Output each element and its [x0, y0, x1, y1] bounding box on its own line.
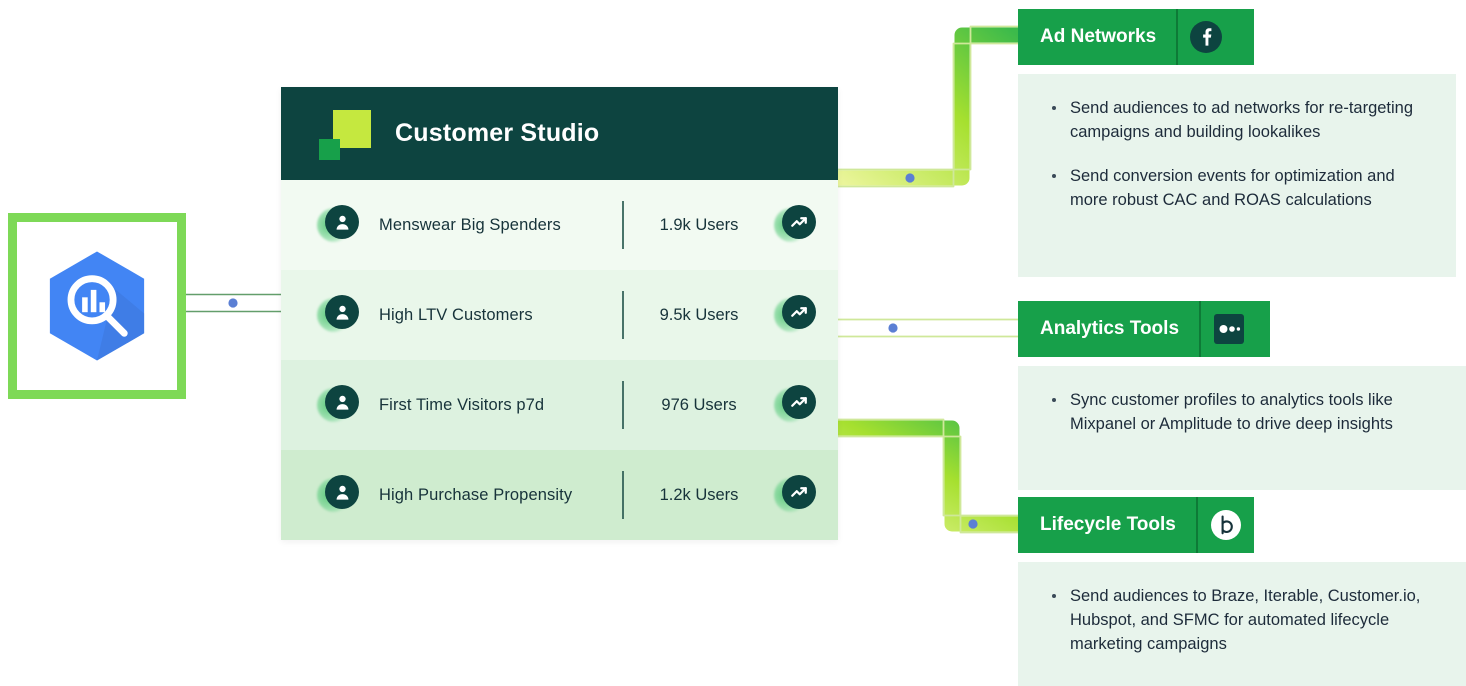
audience-user-count: 976 Users [624, 396, 774, 415]
destination-panel-lifecycle-tools: Lifecycle Tools Send audiences to Braze,… [1018, 497, 1466, 686]
customer-studio-card: Customer Studio Menswear Big Spenders 1.… [281, 87, 838, 540]
destination-panel-analytics-tools: Analytics Tools Sync customer profiles t… [1018, 301, 1466, 490]
audience-name: Menswear Big Spenders [379, 216, 622, 235]
list-item: Send audiences to ad networks for re-tar… [1048, 96, 1430, 144]
source-node-bigquery[interactable] [8, 213, 186, 399]
audience-user-count: 9.5k Users [624, 306, 774, 325]
audience-user-count: 1.9k Users [624, 216, 774, 235]
panel-title: Ad Networks [1018, 26, 1176, 48]
person-icon [317, 295, 359, 335]
row-divider [622, 291, 624, 339]
panel-title: Lifecycle Tools [1018, 514, 1196, 536]
panel-body: Sync customer profiles to analytics tool… [1018, 366, 1466, 490]
destination-panel-ad-networks: Ad Networks Send audiences to ad network… [1018, 9, 1466, 277]
bullet-list: Sync customer profiles to analytics tool… [1048, 388, 1440, 436]
person-icon [317, 475, 359, 515]
audience-name: High Purchase Propensity [379, 486, 622, 505]
bullet-list: Send audiences to ad networks for re-tar… [1048, 96, 1430, 212]
diagram-canvas: Customer Studio Menswear Big Spenders 1.… [0, 0, 1466, 682]
mixpanel-icon[interactable] [1201, 301, 1257, 357]
trending-up-icon[interactable] [774, 295, 816, 335]
bigquery-icon [35, 244, 159, 368]
page-title: Customer Studio [395, 119, 599, 148]
panel-body: Send audiences to ad networks for re-tar… [1018, 74, 1456, 277]
audience-list: Menswear Big Spenders 1.9k Users [281, 180, 838, 540]
customer-studio-logo-icon [317, 106, 373, 162]
wire-card-to-lifecycle-tools [838, 420, 1018, 533]
panel-header[interactable]: Lifecycle Tools [1018, 497, 1254, 553]
row-divider [622, 201, 624, 249]
card-header: Customer Studio [281, 87, 838, 180]
list-item[interactable]: High LTV Customers 9.5k Users [281, 270, 838, 360]
panel-header[interactable]: Ad Networks [1018, 9, 1254, 65]
person-icon [317, 205, 359, 245]
list-item[interactable]: Menswear Big Spenders 1.9k Users [281, 180, 838, 270]
wire-source-to-card [186, 295, 281, 312]
list-item: Send conversion events for optimization … [1048, 164, 1430, 212]
wire-card-to-analytics-tools [838, 320, 1018, 337]
list-item[interactable]: High Purchase Propensity 1.2k Users [281, 450, 838, 540]
facebook-icon[interactable] [1178, 9, 1234, 65]
panel-body: Send audiences to Braze, Iterable, Custo… [1018, 562, 1466, 686]
row-divider [622, 471, 624, 519]
row-divider [622, 381, 624, 429]
wire-card-to-ad-networks [838, 27, 1018, 187]
braze-icon[interactable] [1198, 497, 1254, 553]
trending-up-icon[interactable] [774, 385, 816, 425]
audience-name: First Time Visitors p7d [379, 396, 622, 415]
audience-name: High LTV Customers [379, 306, 622, 325]
list-item: Sync customer profiles to analytics tool… [1048, 388, 1440, 436]
panel-header[interactable]: Analytics Tools [1018, 301, 1270, 357]
audience-user-count: 1.2k Users [624, 486, 774, 505]
trending-up-icon[interactable] [774, 205, 816, 245]
list-item: Send audiences to Braze, Iterable, Custo… [1048, 584, 1440, 656]
panel-title: Analytics Tools [1018, 318, 1199, 340]
person-icon [317, 385, 359, 425]
list-item[interactable]: First Time Visitors p7d 976 Users [281, 360, 838, 450]
trending-up-icon[interactable] [774, 475, 816, 515]
bullet-list: Send audiences to Braze, Iterable, Custo… [1048, 584, 1440, 656]
